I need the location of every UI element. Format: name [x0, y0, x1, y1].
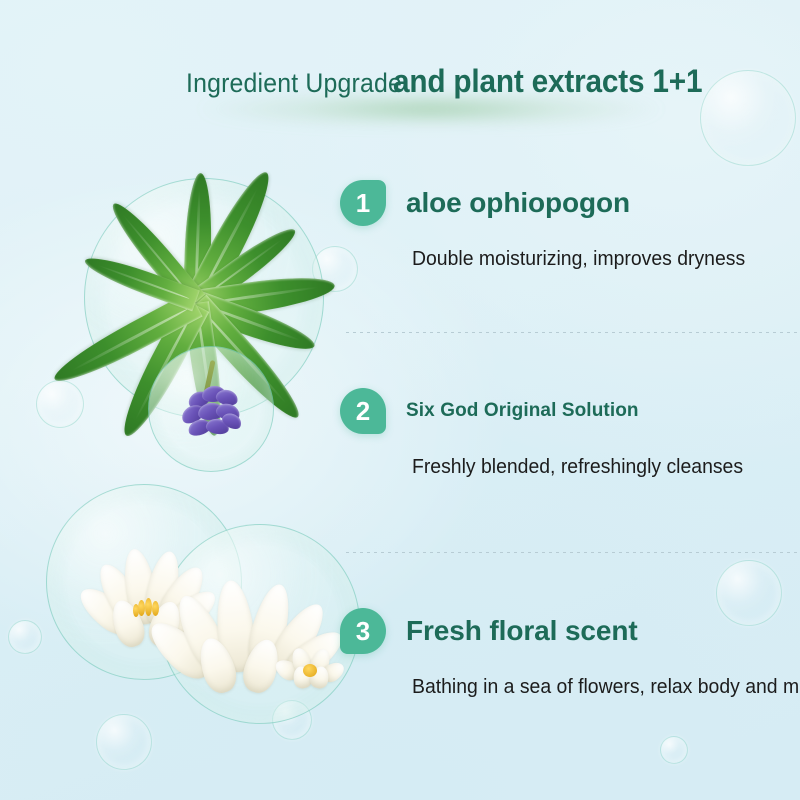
feature-1-heading: 1 aloe ophiopogon — [340, 180, 800, 226]
feature-3-description: Bathing in a sea of flowers, relax body … — [412, 676, 788, 699]
feature-1-description: Double moisturizing, improves dryness — [412, 248, 788, 271]
feature-3-title: Fresh floral scent — [406, 615, 638, 647]
feature-1-number-badge: 1 — [340, 180, 386, 226]
feature-1-title: aloe ophiopogon — [406, 187, 630, 219]
divider-2 — [346, 552, 800, 553]
feature-2-number-badge: 2 — [340, 388, 386, 434]
feature-3-heading: 3 Fresh floral scent — [340, 608, 800, 654]
feature-2-heading: 2 Six God Original Solution — [340, 388, 800, 434]
feature-item-2: 2 Six God Original Solution Freshly blen… — [340, 388, 800, 479]
feature-2-description: Freshly blended, refreshingly cleanses — [412, 456, 788, 479]
divider-1 — [346, 332, 800, 333]
feature-item-1: 1 aloe ophiopogon Double moisturizing, i… — [340, 180, 800, 271]
feature-3-number-badge: 3 — [340, 608, 386, 654]
feature-list: 1 aloe ophiopogon Double moisturizing, i… — [0, 0, 800, 800]
feature-2-title: Six God Original Solution — [406, 400, 639, 422]
feature-item-3: 3 Fresh floral scent Bathing in a sea of… — [340, 608, 800, 699]
